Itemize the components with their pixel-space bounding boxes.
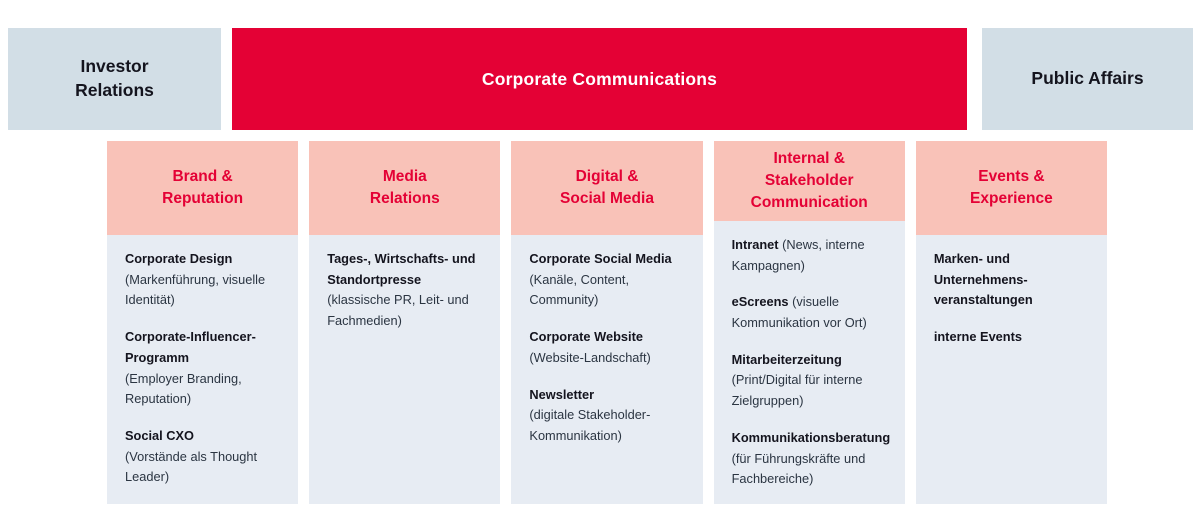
entry-title: Marken- und Unternehmens-veranstaltungen — [934, 249, 1091, 311]
column-header-line3: Communication — [751, 194, 868, 211]
org-chart-canvas: Investor Relations Corporate Communicati… — [0, 0, 1201, 520]
column-header-1[interactable]: Brand &Reputation — [107, 141, 298, 235]
column-body-5: Marken- und Unternehmens-veranstaltungen… — [916, 235, 1107, 504]
column-header-label: Events &Experience — [970, 166, 1053, 210]
column-header-line2: Experience — [970, 190, 1053, 207]
column-header-label: Internal &StakeholderCommunication — [751, 148, 868, 214]
entry-title: interne Events — [934, 327, 1091, 348]
entry: Mitarbeiterzeitung(Print/Digital für int… — [732, 350, 889, 412]
entry-title: Mitarbeiterzeitung — [732, 350, 889, 371]
column-body-1: Corporate Design(Markenführung, visuelle… — [107, 235, 298, 504]
column-header-label: Digital &Social Media — [560, 166, 654, 210]
entry-description: (Markenführung, visuelle Identität) — [125, 270, 282, 311]
entry-title: Corporate-Influencer-Programm — [125, 327, 282, 368]
column-header-3[interactable]: Digital &Social Media — [511, 141, 702, 235]
top-box-public-affairs[interactable]: Public Affairs — [982, 28, 1193, 130]
entry: Corporate Website(Website-Landschaft) — [529, 327, 686, 368]
column-body-3: Corporate Social Media(Kanäle, Content, … — [511, 235, 702, 504]
entry: Intranet (News, interne Kampagnen) — [732, 235, 889, 276]
entry: Corporate Social Media(Kanäle, Content, … — [529, 249, 686, 311]
entry: Social CXO(Vorstände als Thought Leader) — [125, 426, 282, 488]
column-header-label: MediaRelations — [370, 166, 440, 210]
entry-title: Newsletter — [529, 385, 686, 406]
entry: Marken- und Unternehmens-veranstaltungen — [934, 249, 1091, 311]
entry: Corporate Design(Markenführung, visuelle… — [125, 249, 282, 311]
entry-description: (für Führungskräfte und Fachbereiche) — [732, 449, 889, 490]
column-header-line2: Reputation — [162, 190, 243, 207]
entry-title: Kommunikationsberatung — [732, 428, 889, 449]
column-4: Internal &StakeholderCommunicationIntran… — [714, 141, 905, 504]
entry-title: Corporate Website — [529, 327, 686, 348]
entry: Tages-, Wirtschafts- und Standortpresse(… — [327, 249, 484, 332]
investor-relations-line1: Investor — [80, 56, 148, 76]
entry-description: (Vorstände als Thought Leader) — [125, 447, 282, 488]
public-affairs-label: Public Affairs — [1031, 67, 1143, 91]
entry-description: (Kanäle, Content, Community) — [529, 270, 686, 311]
column-header-2[interactable]: MediaRelations — [309, 141, 500, 235]
column-3: Digital &Social MediaCorporate Social Me… — [511, 141, 702, 504]
entry-description: (Print/Digital für interne Zielgruppen) — [732, 370, 889, 411]
column-grid: Brand &ReputationCorporate Design(Marken… — [107, 141, 1107, 504]
top-box-corporate-communications[interactable]: Corporate Communications — [232, 28, 967, 130]
entry: Newsletter(digitale Stakeholder-Kommunik… — [529, 385, 686, 447]
entry-description: (Employer Branding, Reputation) — [125, 369, 282, 410]
column-body-2: Tages-, Wirtschafts- und Standortpresse(… — [309, 235, 500, 504]
entry-description: (Website-Landschaft) — [529, 348, 686, 369]
column-1: Brand &ReputationCorporate Design(Marken… — [107, 141, 298, 504]
column-header-line2: Social Media — [560, 190, 654, 207]
top-box-investor-relations[interactable]: Investor Relations — [8, 28, 221, 130]
column-header-line1: Internal & — [773, 150, 844, 167]
entry-title: Corporate Social Media — [529, 249, 686, 270]
entry: eScreens (visuelle Kommunikation vor Ort… — [732, 292, 889, 333]
entry-description: (digitale Stakeholder-Kommunikation) — [529, 405, 686, 446]
entry-description: (klassische PR, Leit- und Fachmedien) — [327, 290, 484, 331]
entry-title: Social CXO — [125, 426, 282, 447]
entry: interne Events — [934, 327, 1091, 348]
entry: Corporate-Influencer-Programm(Employer B… — [125, 327, 282, 410]
corporate-communications-label: Corporate Communications — [482, 69, 717, 90]
column-header-line1: Media — [383, 168, 427, 185]
column-header-line1: Brand & — [172, 168, 232, 185]
column-header-line2: Stakeholder — [765, 172, 854, 189]
top-row: Investor Relations Corporate Communicati… — [0, 28, 1201, 130]
investor-relations-line2: Relations — [75, 80, 154, 100]
column-header-label: Brand &Reputation — [162, 166, 243, 210]
top-box-investor-relations-label: Investor Relations — [75, 55, 154, 102]
column-header-line2: Relations — [370, 190, 440, 207]
column-header-line1: Digital & — [576, 168, 639, 185]
column-body-4: Intranet (News, interne Kampagnen)eScree… — [714, 221, 905, 504]
entry: Kommunikationsberatung(für Führungskräft… — [732, 428, 889, 490]
column-header-4[interactable]: Internal &StakeholderCommunication — [714, 141, 905, 221]
entry-title: Corporate Design — [125, 249, 282, 270]
column-5: Events &ExperienceMarken- und Unternehme… — [916, 141, 1107, 504]
entry-title: eScreens — [732, 294, 789, 309]
column-header-line1: Events & — [978, 168, 1044, 185]
entry-title: Tages-, Wirtschafts- und Standortpresse — [327, 249, 484, 290]
column-2: MediaRelationsTages-, Wirtschafts- und S… — [309, 141, 500, 504]
column-header-5[interactable]: Events &Experience — [916, 141, 1107, 235]
entry-title: Intranet — [732, 237, 779, 252]
